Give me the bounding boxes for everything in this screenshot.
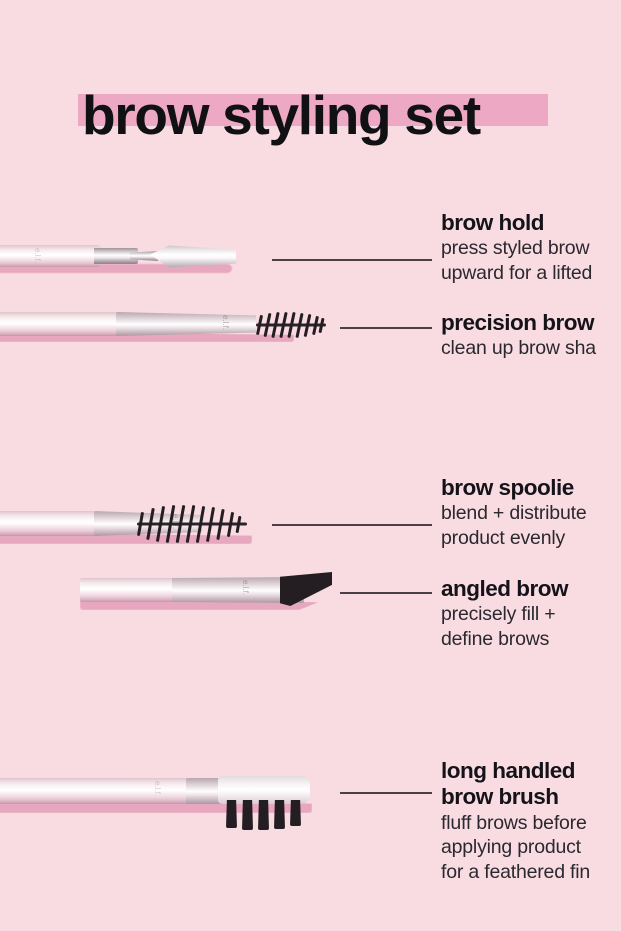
item-title: brow spoolie (441, 475, 621, 501)
page-title: brow styling set (82, 88, 621, 143)
page-title-wrap: brow styling set (0, 46, 621, 126)
item-title: long handled (441, 758, 621, 784)
tool-brow-hold: e.l.f. (0, 236, 240, 278)
ferrule-logo: e.l.f. (241, 580, 250, 595)
item-desc-line: for a feathered fin (441, 860, 621, 885)
label-long-handled-brow-brush: long handled brow brush fluff brows befo… (441, 758, 621, 885)
spoolie-head (256, 310, 326, 340)
item-desc-line: fluff brows before (441, 811, 621, 836)
handle-logo: e.l.f. (153, 781, 162, 796)
connector-line-long-handled (340, 792, 432, 794)
tool-angled-brow: e.l.f. (80, 568, 330, 616)
connector-line-brow-spoolie (272, 524, 432, 526)
connector-line-angled-brow (340, 592, 432, 594)
item-desc-line: upward for a lifted (441, 261, 621, 286)
spoolie-head (137, 504, 247, 544)
connector-line-precision-brow (340, 327, 432, 329)
brush-head (218, 776, 310, 804)
item-desc-line: blend + distribute (441, 501, 621, 526)
tool-long-handled-brow-brush: e.l.f. (0, 768, 330, 840)
item-title: precision brow (441, 310, 621, 336)
label-precision-brow: precision brow clean up brow sha (441, 310, 621, 361)
item-title: brow hold (441, 210, 621, 236)
label-angled-brow: angled brow precisely fill + define brow… (441, 576, 621, 652)
tool-brow-spoolie: e.l.f. (0, 500, 272, 550)
tool-precision-brow: e.l.f. (0, 302, 334, 348)
angled-bristle-head (280, 572, 332, 606)
item-desc-line: product evenly (441, 526, 621, 551)
item-title: angled brow (441, 576, 621, 602)
label-brow-spoolie: brow spoolie blend + distribute product … (441, 475, 621, 551)
infographic-canvas: brow styling set e.l.f. brow hold press … (0, 0, 621, 931)
item-desc-line: clean up brow sha (441, 336, 621, 361)
label-brow-hold: brow hold press styled brow upward for a… (441, 210, 621, 286)
item-title-line2: brow brush (441, 784, 621, 810)
item-desc-line: precisely fill + (441, 602, 621, 627)
connector-line-brow-hold (272, 259, 432, 261)
item-desc-line: press styled brow (441, 236, 621, 261)
handle-logo: e.l.f. (33, 248, 42, 263)
item-desc-line: define brows (441, 627, 621, 652)
item-desc-line: applying product (441, 835, 621, 860)
ferrule-logo: e.l.f. (221, 315, 230, 330)
